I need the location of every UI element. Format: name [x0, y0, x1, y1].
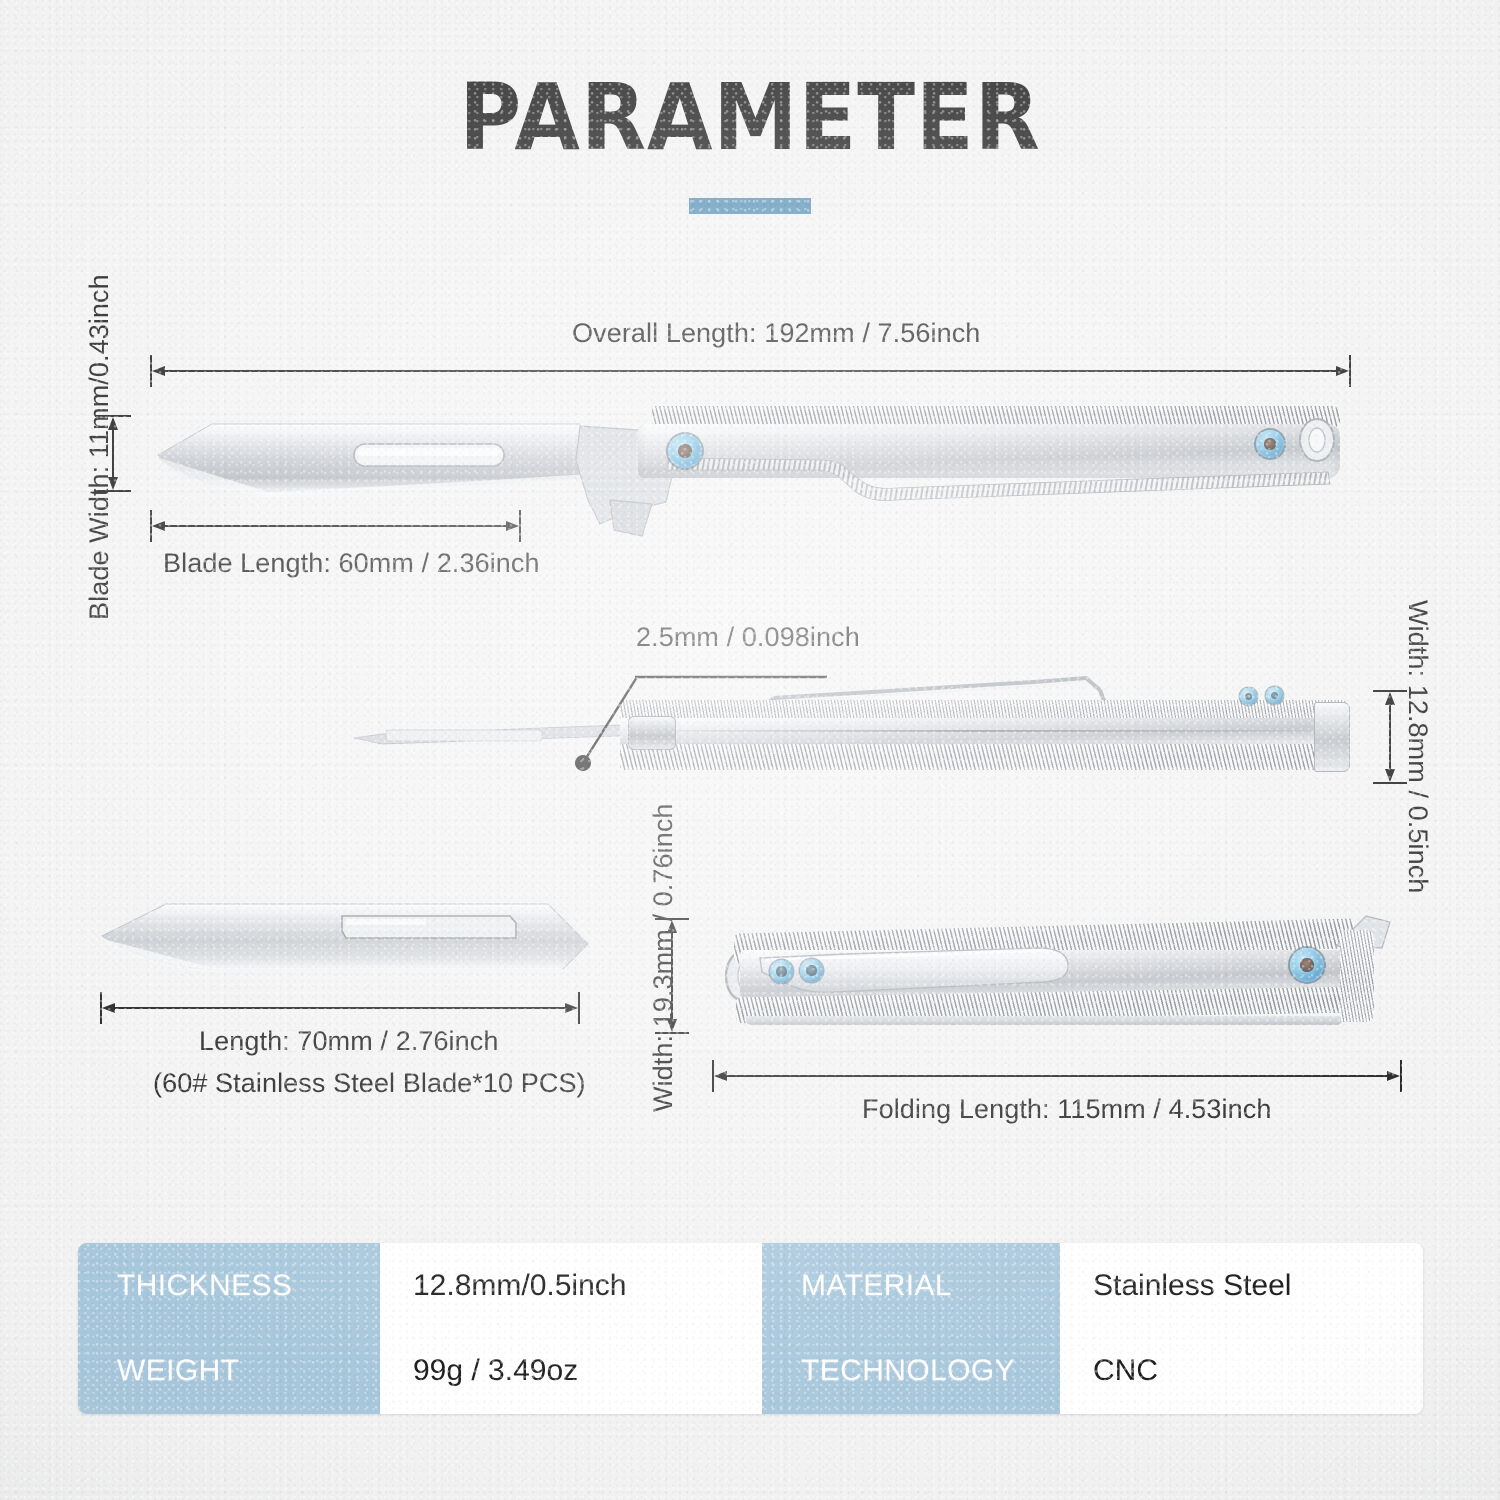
blade-thickness-label: 2.5mm / 0.098inch [636, 622, 860, 653]
spec-value-thickness: 12.8mm/0.5inch [380, 1243, 762, 1329]
thickness-leader-line [575, 655, 835, 775]
open-knife-image [150, 408, 1340, 528]
spec-label-technology: TECHNOLOGY [762, 1329, 1060, 1415]
blade-length-label: Blade Length: 60mm / 2.36inch [163, 548, 540, 579]
lanyard-hole [1283, 416, 1353, 476]
spare-blade-length-label: Length: 70mm / 2.76inch [199, 1026, 498, 1057]
spec-value-material: Stainless Steel [1060, 1243, 1423, 1329]
spec-table: THICKNESS 12.8mm/0.5inch MATERIAL Stainl… [78, 1243, 1423, 1414]
spare-blade-shape [96, 892, 606, 992]
clip-screw-icon [1240, 688, 1257, 705]
clip-screw-icon [1266, 687, 1283, 704]
handle-width-label: Width: 19.3mm / 0.76inch [648, 803, 679, 1112]
spec-label-weight: WEIGHT [78, 1329, 380, 1415]
pivot-screw-icon [1290, 948, 1324, 982]
spec-value-weight: 99g / 3.49oz [380, 1329, 762, 1415]
spec-label-material: MATERIAL [762, 1243, 1060, 1329]
spec-value-technology: CNC [1060, 1329, 1423, 1415]
folding-length-label: Folding Length: 115mm / 4.53inch [862, 1094, 1271, 1125]
spec-label-thickness: THICKNESS [78, 1243, 380, 1329]
clip-screw-icon [770, 960, 793, 983]
body-width-label: Width: 12.8mm / 0.5inch [1402, 600, 1433, 893]
title-accent-bar [689, 198, 811, 214]
spare-blade-image [96, 892, 606, 992]
knife-handle [628, 406, 1340, 502]
handle-lower-edge [628, 454, 1340, 514]
pocket-clip [750, 942, 1090, 1012]
profile-knife-image [352, 672, 1362, 782]
pivot-screw-icon [668, 434, 702, 468]
page-title: PARAMETER [60, 72, 1440, 164]
overall-length-label: Overall Length: 192mm / 7.56inch [572, 318, 980, 349]
rear-screw-icon [1256, 430, 1284, 458]
clip-screw-icon [800, 959, 823, 982]
spare-blade-pack-note: (60# Stainless Steel Blade*10 PCS) [153, 1068, 586, 1099]
blade-width-label: Blade Width: 11mm/0.43inch [84, 274, 115, 620]
folded-knife-image [712, 912, 1402, 1038]
knife-blade-shape [150, 408, 630, 528]
